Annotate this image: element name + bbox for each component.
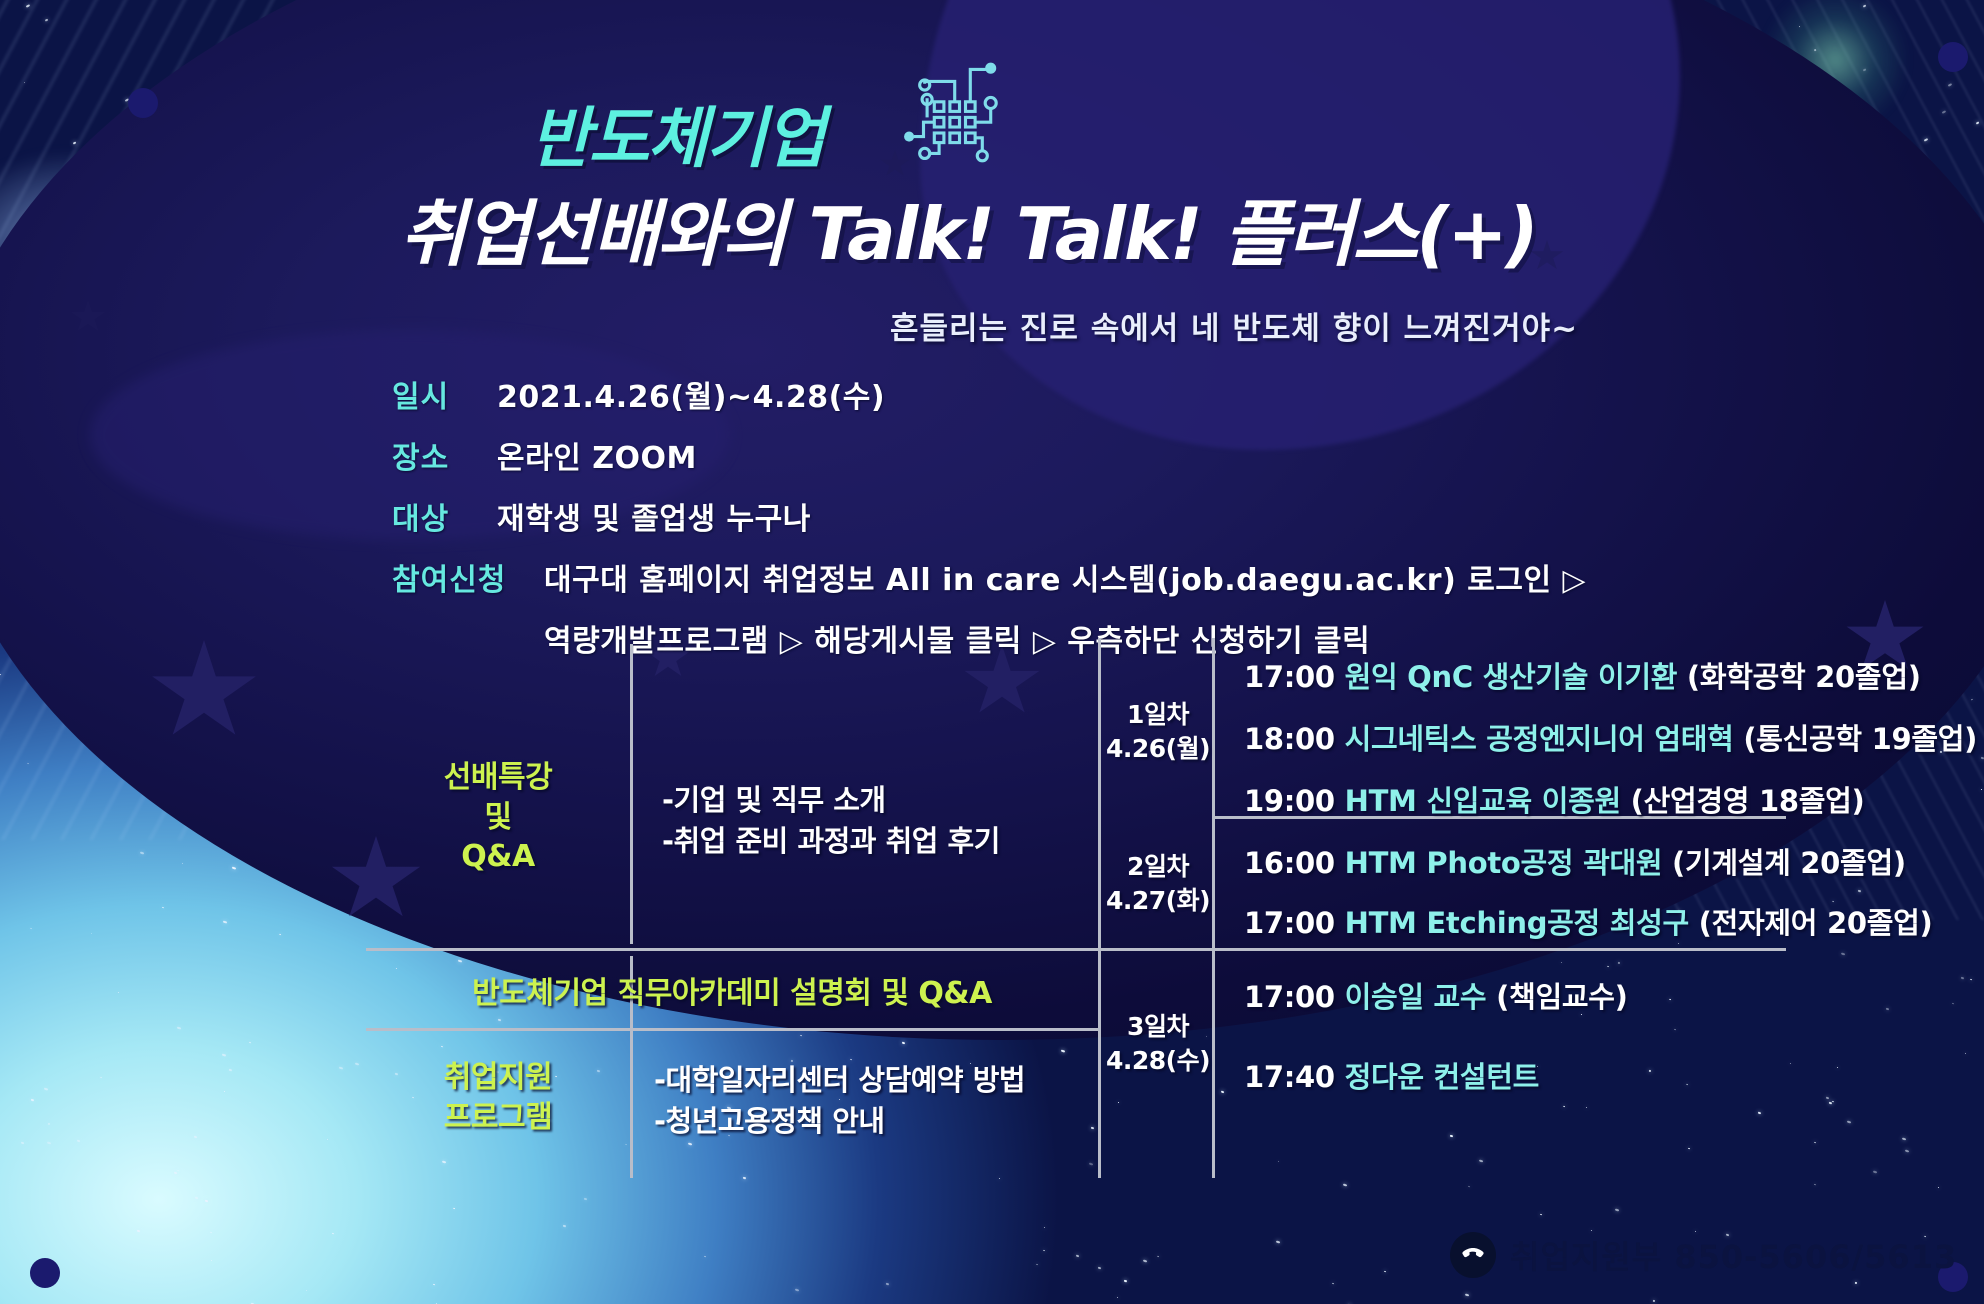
session-row: 17:40 정다운 컨설턴트 xyxy=(1244,1054,1539,1096)
session-time: 16:00 xyxy=(1244,846,1335,880)
category-desc-mentoring: -기업 및 직무 소개 -취업 준비 과정과 취업 후기 xyxy=(662,780,1092,862)
info-row-place: 장소 온라인 ZOOM xyxy=(392,433,1692,477)
info-row-target: 대상 재학생 및 졸업생 누구나 xyxy=(392,494,1692,538)
session-body: 정다운 컨설턴트 xyxy=(1345,1060,1539,1094)
info-value-apply: 대구대 홈페이지 취업정보 All in care 시스템(job.daegu.… xyxy=(544,555,1586,599)
session-body: 시그네틱스 공정엔지니어 엄태혁 xyxy=(1345,722,1734,756)
event-info-block: 일시 2021.4.26(월)~4.28(수) 장소 온라인 ZOOM 대상 재… xyxy=(392,372,1692,660)
session-row: 17:00 이승일 교수 (책임교수) xyxy=(1244,974,1628,1016)
session-row: 16:00 HTM Photo공정 곽대원 (기계설계 20졸업) xyxy=(1244,840,1906,882)
day-date-3: 4.28(수) xyxy=(1106,1044,1210,1078)
title-subtitle: 취업선배와의 Talk! Talk! 플러스(+) xyxy=(400,175,1537,280)
table-divider-vertical xyxy=(630,644,633,944)
session-body: HTM Photo공정 곽대원 xyxy=(1345,846,1663,880)
info-value-place: 온라인 ZOOM xyxy=(497,433,697,477)
session-row: 18:00 시그네틱스 공정엔지니어 엄태혁 (통신공학 19졸업) xyxy=(1244,716,1977,758)
tagline: 흔들리는 진로 속에서 네 반도체 향이 느껴진거야~ xyxy=(890,303,1578,348)
category-label-support: 취업지원 프로그램 xyxy=(366,1058,630,1137)
table-divider-vertical xyxy=(1098,638,1101,1178)
category-label-mentoring: 선배특강 및 Q&A xyxy=(366,758,630,877)
session-row: 17:00 원익 QnC 생산기술 이기환 (화학공학 20졸업) xyxy=(1244,654,1921,696)
contact-footer: 취업지원부 850-5606/5613 xyxy=(1450,1232,1957,1278)
session-time: 18:00 xyxy=(1244,722,1335,756)
session-body: HTM Etching공정 최성구 xyxy=(1345,906,1689,940)
session-note: (전자제어 20졸업) xyxy=(1699,906,1933,940)
session-body: 이승일 교수 xyxy=(1345,980,1487,1014)
table-divider-horizontal xyxy=(366,1028,1098,1031)
info-value-date: 2021.4.26(월)~4.28(수) xyxy=(497,372,885,416)
info-value-target: 재학생 및 졸업생 누구나 xyxy=(497,494,811,538)
table-divider-vertical xyxy=(1212,638,1215,1178)
info-label-date: 일시 xyxy=(392,372,497,416)
title-main: 반도체기업 xyxy=(530,85,824,181)
info-row-apply: 참여신청 대구대 홈페이지 취업정보 All in care 시스템(job.d… xyxy=(392,555,1692,599)
day-date-2: 4.27(화) xyxy=(1106,884,1210,918)
session-body: HTM 신입교육 이종원 xyxy=(1345,784,1621,818)
session-note: (통신공학 19졸업) xyxy=(1743,722,1977,756)
day-number-1: 1일차 xyxy=(1106,698,1210,732)
session-time: 19:00 xyxy=(1244,784,1335,818)
poster-canvas: 반도체기업 xyxy=(0,0,1984,1304)
info-label-place: 장소 xyxy=(392,433,497,477)
day-number-3: 3일차 xyxy=(1106,1010,1210,1044)
info-row-date: 일시 2021.4.26(월)~4.28(수) xyxy=(392,372,1692,416)
schedule-table: 선배특강 및 Q&A -기업 및 직무 소개 -취업 준비 과정과 취업 후기 … xyxy=(366,638,1786,1178)
day-cell-3: 3일차 4.28(수) xyxy=(1106,1010,1210,1078)
table-divider-horizontal xyxy=(366,948,1786,951)
day-number-2: 2일차 xyxy=(1106,850,1210,884)
category-desc-support: -대학일자리센터 상담예약 방법 -청년고용정책 안내 xyxy=(654,1060,1094,1142)
info-label-apply: 참여신청 xyxy=(392,555,544,599)
session-note: (화학공학 20졸업) xyxy=(1687,660,1921,694)
day-cell-2: 2일차 4.27(화) xyxy=(1106,850,1210,918)
session-row: 19:00 HTM 신입교육 이종원 (산업경영 18졸업) xyxy=(1244,778,1864,820)
session-body: 원익 QnC 생산기술 이기환 xyxy=(1345,660,1678,694)
session-note: (산업경영 18졸업) xyxy=(1631,784,1865,818)
session-time: 17:40 xyxy=(1244,1060,1335,1094)
contact-text: 취업지원부 850-5606/5613 xyxy=(1510,1232,1957,1278)
session-row: 17:00 HTM Etching공정 최성구 (전자제어 20졸업) xyxy=(1244,900,1932,942)
day-date-1: 4.26(월) xyxy=(1106,732,1210,766)
session-time: 17:00 xyxy=(1244,980,1335,1014)
circuit-chip-icon xyxy=(885,55,1010,175)
category-label-academy: 반도체기업 직무아카데미 설명회 및 Q&A xyxy=(366,974,1098,1014)
session-time: 17:00 xyxy=(1244,906,1335,940)
session-note: (책임교수) xyxy=(1496,980,1627,1014)
session-time: 17:00 xyxy=(1244,660,1335,694)
phone-icon xyxy=(1450,1232,1496,1278)
info-label-target: 대상 xyxy=(392,494,497,538)
day-cell-1: 1일차 4.26(월) xyxy=(1106,698,1210,766)
session-note: (기계설계 20졸업) xyxy=(1672,846,1906,880)
